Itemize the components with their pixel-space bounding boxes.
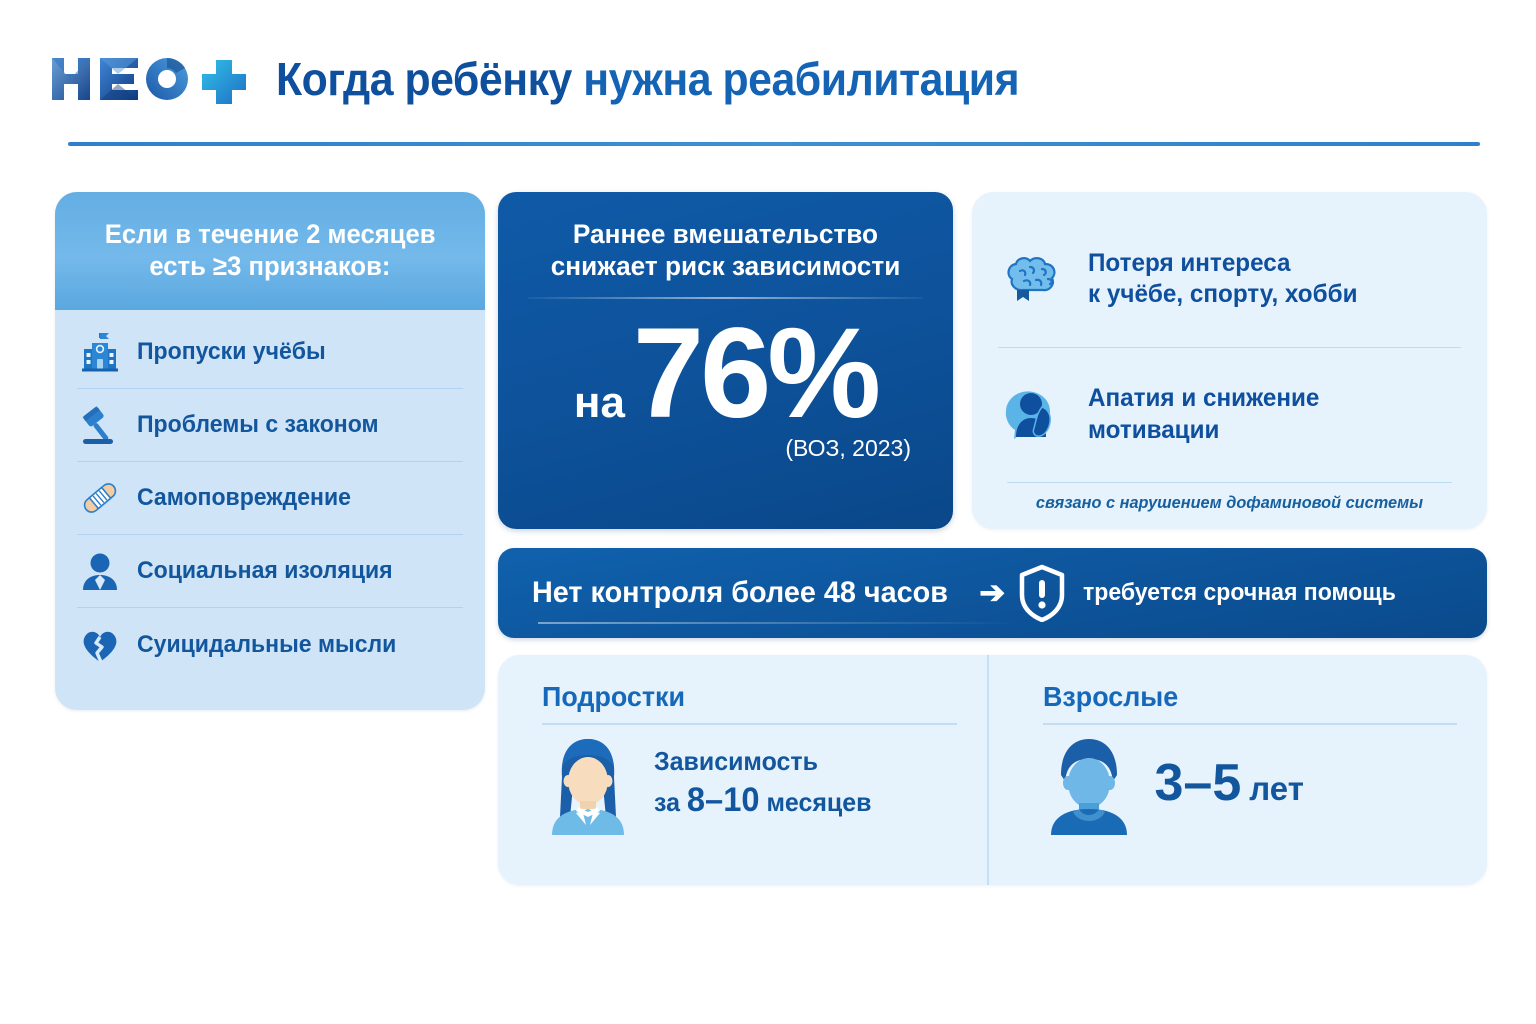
alert-underline — [538, 622, 1018, 624]
statistic-divider — [528, 297, 923, 299]
broken-heart-icon — [77, 622, 123, 668]
urgent-alert-bar: Нет контроля более 48 часов ➔ требуется … — [498, 548, 1487, 638]
shield-exclamation-icon — [1017, 564, 1067, 622]
list-item[interactable]: Суицидальные мысли — [77, 608, 463, 681]
neo-plus-logo — [50, 52, 258, 106]
teens-row: Зависимость за 8–10 месяцев — [542, 731, 957, 835]
bandage-icon — [77, 475, 123, 521]
arrow-icon: ➔ — [979, 575, 1005, 611]
adults-row: 3–5лет — [1043, 731, 1458, 835]
statistic-headline-line2: снижает риск зависимости — [530, 250, 921, 282]
adults-duration-unit: лет — [1249, 770, 1304, 807]
symptom-line1: Апатия и снижение — [1088, 383, 1319, 415]
comparison-panel: Подростки Зависимость за 8–10 месяцев — [498, 655, 1487, 885]
teens-line2-prefix: за — [654, 787, 687, 817]
teens-title: Подростки — [542, 681, 940, 713]
page-title-part2: нужна реабилитация — [572, 53, 1019, 105]
symptom-item-apathy[interactable]: Апатия и снижение мотивации — [998, 347, 1461, 483]
page-title-part1: Когда ребёнку — [276, 53, 572, 105]
teens-line1: Зависимость — [654, 746, 871, 777]
teens-line2-suffix: месяцев — [760, 787, 872, 817]
statistic-headline-line1: Раннее вмешательство — [530, 218, 921, 250]
list-item[interactable]: Пропуски учёбы — [77, 316, 463, 389]
warning-signs-header-line2: есть ≥3 признаков: — [149, 251, 390, 283]
symptoms-footnote: связано с нарушением дофаминовой системы — [1007, 482, 1451, 517]
symptoms-panel: Потеря интереса к учёбе, спорту, хобби А… — [972, 192, 1487, 529]
symptom-text: Апатия и снижение мотивации — [1088, 383, 1319, 446]
list-item-label: Пропуски учёбы — [137, 338, 326, 366]
statistic-value: 76% — [633, 315, 877, 433]
page-header: Когда ребёнку нужна реабилитация — [50, 44, 1490, 114]
list-item-label: Социальная изоляция — [137, 557, 393, 585]
symptom-line2: мотивации — [1088, 415, 1319, 447]
warning-signs-header: Если в течение 2 месяцев есть ≥3 признак… — [55, 192, 485, 310]
teens-line2: за 8–10 месяцев — [654, 781, 871, 820]
list-item-label: Проблемы с законом — [137, 411, 379, 439]
adults-title: Взрослые — [1043, 681, 1441, 713]
list-item[interactable]: Социальная изоляция — [77, 535, 463, 608]
alert-tail-text: требуется срочная помощь — [1083, 579, 1396, 607]
warning-signs-panel: Если в течение 2 месяцев есть ≥3 признак… — [55, 192, 485, 710]
school-icon — [77, 329, 123, 375]
list-item[interactable]: Самоповреждение — [77, 462, 463, 535]
sad-person-icon — [998, 385, 1070, 445]
person-icon — [77, 548, 123, 594]
brain-icon — [998, 249, 1070, 309]
adults-duration: 3–5лет — [1155, 753, 1304, 813]
comparison-column-adults: Взрослые 3–5лет — [987, 655, 1488, 885]
header-divider — [68, 142, 1480, 146]
adults-duration-value: 3–5 — [1155, 754, 1242, 812]
list-item-label: Суицидальные мысли — [137, 631, 396, 659]
warning-signs-header-line1: Если в течение 2 месяцев — [105, 219, 436, 251]
symptom-line2: к учёбе, спорту, хобби — [1088, 279, 1357, 311]
teens-duration-value: 8–10 — [687, 781, 760, 819]
warning-signs-list: Пропуски учёбы Проблемы с законом — [55, 310, 485, 691]
teen-girl-avatar — [542, 731, 634, 835]
teens-text: Зависимость за 8–10 месяцев — [654, 746, 881, 820]
symptom-item-interest-loss[interactable]: Потеря интереса к учёбе, спорту, хобби — [998, 212, 1461, 347]
statistic-card: Раннее вмешательство снижает риск зависи… — [498, 192, 953, 529]
statistic-prefix: на — [574, 378, 625, 428]
list-item-label: Самоповреждение — [137, 484, 351, 512]
list-item[interactable]: Проблемы с законом — [77, 389, 463, 462]
comparison-column-teens: Подростки Зависимость за 8–10 месяцев — [498, 655, 987, 885]
symptom-text: Потеря интереса к учёбе, спорту, хобби — [1088, 248, 1357, 311]
symptom-line1: Потеря интереса — [1088, 248, 1357, 280]
page-title: Когда ребёнку нужна реабилитация — [276, 52, 1019, 106]
statistic-value-row: на 76% — [524, 315, 927, 433]
teens-divider — [542, 723, 957, 725]
infographic-page: Когда ребёнку нужна реабилитация Если в … — [0, 0, 1536, 1024]
alert-main-text: Нет контроля более 48 часов — [532, 576, 948, 610]
adult-man-avatar — [1043, 731, 1135, 835]
gavel-icon — [77, 402, 123, 448]
adults-divider — [1043, 723, 1458, 725]
